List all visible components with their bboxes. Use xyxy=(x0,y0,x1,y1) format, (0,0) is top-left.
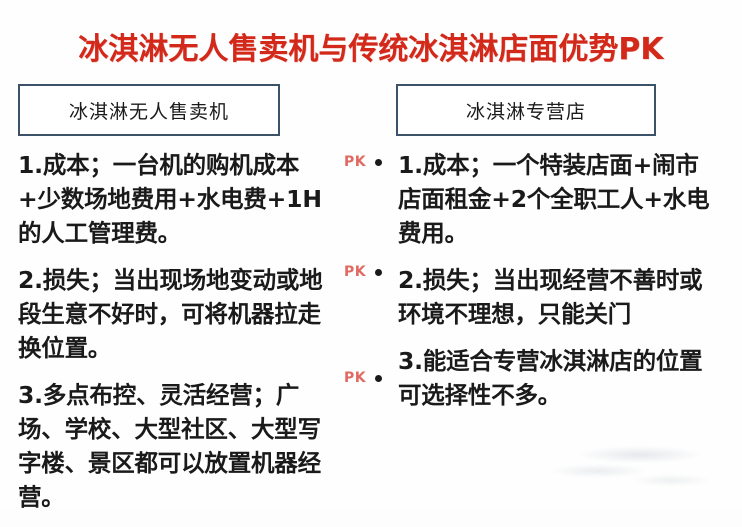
pk-label: PK xyxy=(344,370,366,386)
column-header-box-left: 冰淇淋无人售卖机 xyxy=(18,84,280,136)
page-title: 冰淇淋无人售卖机与传统冰淇淋店面优势PK xyxy=(0,24,742,68)
pk-label: PK xyxy=(344,154,366,170)
watermark-smudge xyxy=(514,435,724,493)
column-header-label-right: 冰淇淋专营店 xyxy=(466,97,586,124)
pk-marker: PK xyxy=(344,262,382,282)
list-item: 1.成本；一个特装店面+闹市店面租金+2个全职工人+水电费用。 xyxy=(398,148,720,250)
list-item: 3.多点布控、灵活经营；广场、学校、大型社区、大型写字楼、景区都可以放置机器经营… xyxy=(18,378,340,514)
list-item: 3.能适合专营冰淇淋店的位置可选择性不多。 xyxy=(398,344,720,412)
column-header-box-right: 冰淇淋专营店 xyxy=(396,84,656,136)
pk-label: PK xyxy=(344,264,366,280)
left-column-list: 1.成本；一台机的购机成本+少数场地费用+水电费+1H的人工管理费。 2.损失；… xyxy=(18,148,340,527)
list-item: 2.损失；当出现场地变动或地段生意不好时，可将机器拉走换位置。 xyxy=(18,263,340,365)
bullet-dot-icon xyxy=(375,375,382,382)
pk-marker: PK xyxy=(344,152,382,172)
slide-canvas: 冰淇淋无人售卖机与传统冰淇淋店面优势PK 冰淇淋无人售卖机 冰淇淋专营店 1.成… xyxy=(0,0,742,507)
list-item: 2.损失；当出现经营不善时或环境不理想，只能关门 xyxy=(398,263,720,331)
bullet-dot-icon xyxy=(375,159,382,166)
right-column-list: 1.成本；一个特装店面+闹市店面租金+2个全职工人+水电费用。 2.损失；当出现… xyxy=(398,148,720,425)
list-item: 1.成本；一台机的购机成本+少数场地费用+水电费+1H的人工管理费。 xyxy=(18,148,340,250)
bullet-dot-icon xyxy=(375,269,382,276)
pk-marker: PK xyxy=(344,368,382,388)
column-header-label-left: 冰淇淋无人售卖机 xyxy=(69,97,229,124)
